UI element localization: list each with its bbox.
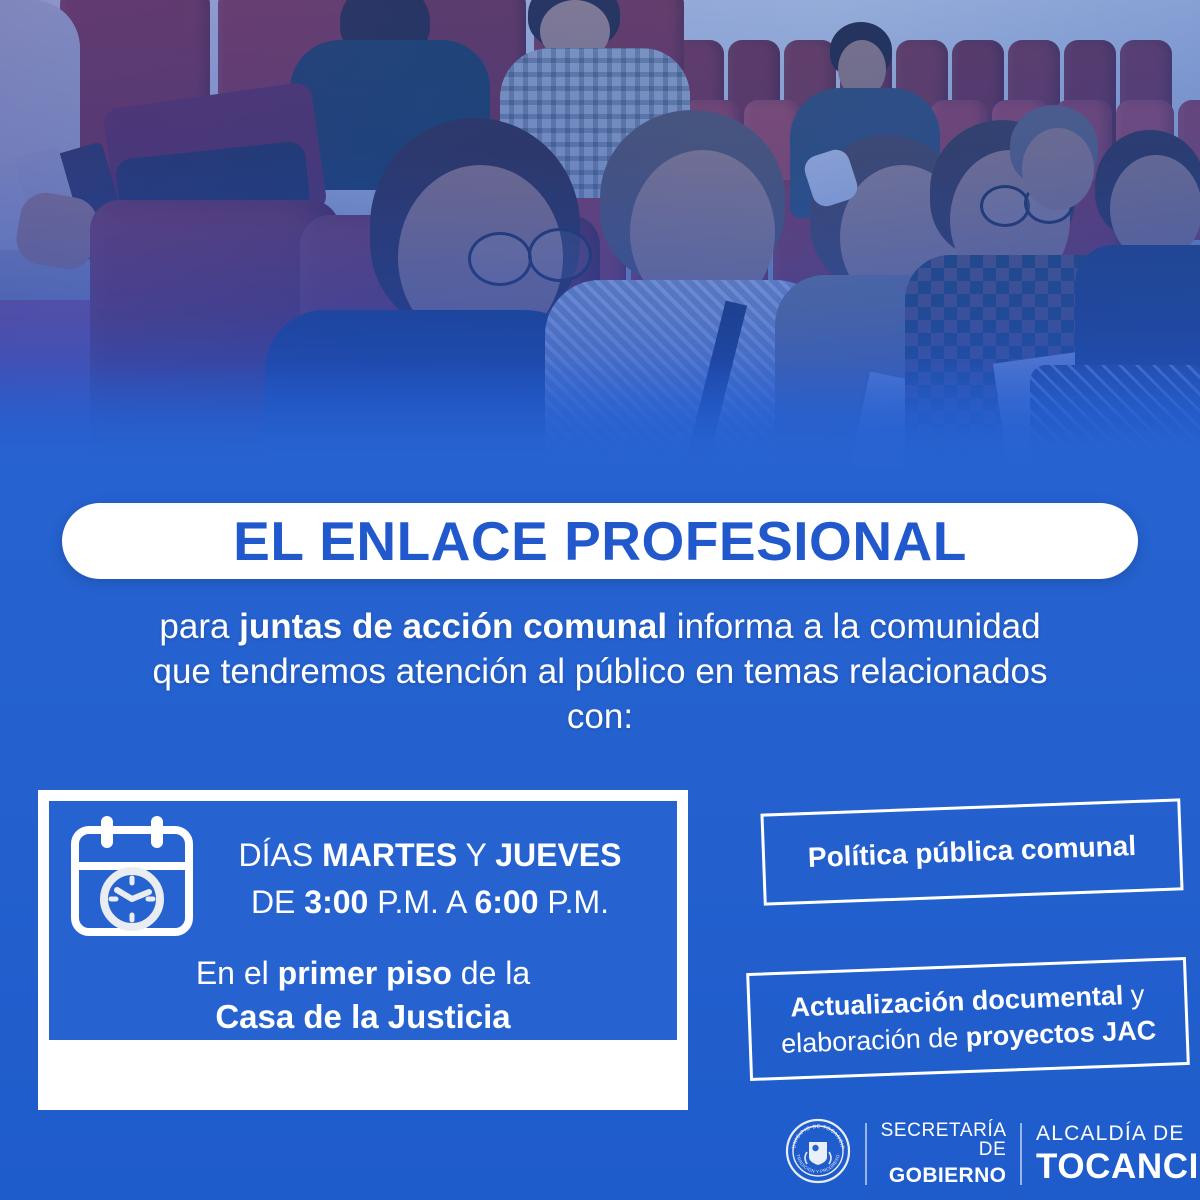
schedule-hours-line: DE 3:00 P.M. A 6:00 P.M. bbox=[197, 879, 663, 926]
subtitle-bold1: juntas de acción comunal bbox=[239, 607, 667, 646]
place-pre: En el bbox=[196, 955, 278, 991]
schedule-inner-panel: DÍAS MARTES Y JUEVES DE 3:00 P.M. A 6:00… bbox=[46, 798, 680, 1043]
schedule-place-line1: En el primer piso de la bbox=[49, 951, 677, 995]
schedule-days-line: DÍAS MARTES Y JUEVES bbox=[197, 832, 663, 879]
schedule-card: DÍAS MARTES Y JUEVES DE 3:00 P.M. A 6:00… bbox=[38, 790, 688, 1110]
hours-pre: DE bbox=[251, 884, 304, 920]
subtitle-part1: para bbox=[159, 607, 239, 646]
alcaldia-line2: TOCANCIPÁ bbox=[1036, 1149, 1200, 1184]
hours-bold2: 6:00 bbox=[474, 884, 538, 920]
topic-box-politica-publica-comunal: Política pública comunal bbox=[760, 798, 1183, 905]
days-mid: Y bbox=[457, 837, 495, 873]
footer-divider-1 bbox=[865, 1123, 867, 1185]
secretaria-line2: GOBIERNO bbox=[881, 1165, 1007, 1186]
schedule-place: En el primer piso de la Casa de la Justi… bbox=[49, 951, 677, 1039]
secretaria-line1: SECRETARÍA DE bbox=[881, 1121, 1007, 1159]
subtitle-paragraph: para juntas de acción comunal informa a … bbox=[130, 604, 1070, 739]
header-photo: TOTTO bbox=[0, 0, 1200, 510]
days-pre: DÍAS bbox=[239, 837, 323, 873]
alcaldia-line1: ALCALDÍA DE bbox=[1036, 1123, 1200, 1144]
schedule-place-line2: Casa de la Justicia bbox=[49, 995, 677, 1039]
hours-post: P.M. bbox=[539, 884, 610, 920]
place-bold: primer piso bbox=[278, 955, 452, 991]
topic-2-label: Actualización documental y elaboración d… bbox=[750, 975, 1186, 1063]
footer-divider-2 bbox=[1020, 1123, 1022, 1185]
topic-2-bold2: proyectos JAC bbox=[965, 1015, 1157, 1052]
poster-root: TOTTO bbox=[0, 0, 1200, 1200]
page-title: EL ENLACE PROFESIONAL bbox=[233, 509, 967, 573]
title-banner: EL ENLACE PROFESIONAL bbox=[62, 503, 1138, 579]
alcaldia-block: ALCALDÍA DE TOCANCIPÁ bbox=[1036, 1123, 1200, 1184]
place-post: de la bbox=[452, 955, 530, 991]
hours-mid: P.M. A bbox=[368, 884, 474, 920]
topic-1-label: Política pública comunal bbox=[807, 829, 1136, 875]
days-bold1: MARTES bbox=[322, 837, 457, 873]
hours-bold1: 3:00 bbox=[304, 884, 368, 920]
days-bold2: JUEVES bbox=[495, 837, 621, 873]
calendar-clock-icon bbox=[67, 814, 197, 945]
topic-2-bold1: Actualización documental bbox=[790, 980, 1124, 1022]
municipal-seal-icon: MUNICIPIO DE TOCANCIPÁ TRADICIÓN Y PROGR… bbox=[785, 1118, 851, 1189]
secretaria-block: SECRETARÍA DE GOBIERNO bbox=[881, 1121, 1007, 1186]
schedule-times: DÍAS MARTES Y JUEVES DE 3:00 P.M. A 6:00… bbox=[197, 832, 677, 926]
footer-branding: MUNICIPIO DE TOCANCIPÁ TRADICIÓN Y PROGR… bbox=[785, 1118, 1200, 1189]
topic-box-actualizacion-documental: Actualización documental y elaboración d… bbox=[746, 957, 1190, 1081]
